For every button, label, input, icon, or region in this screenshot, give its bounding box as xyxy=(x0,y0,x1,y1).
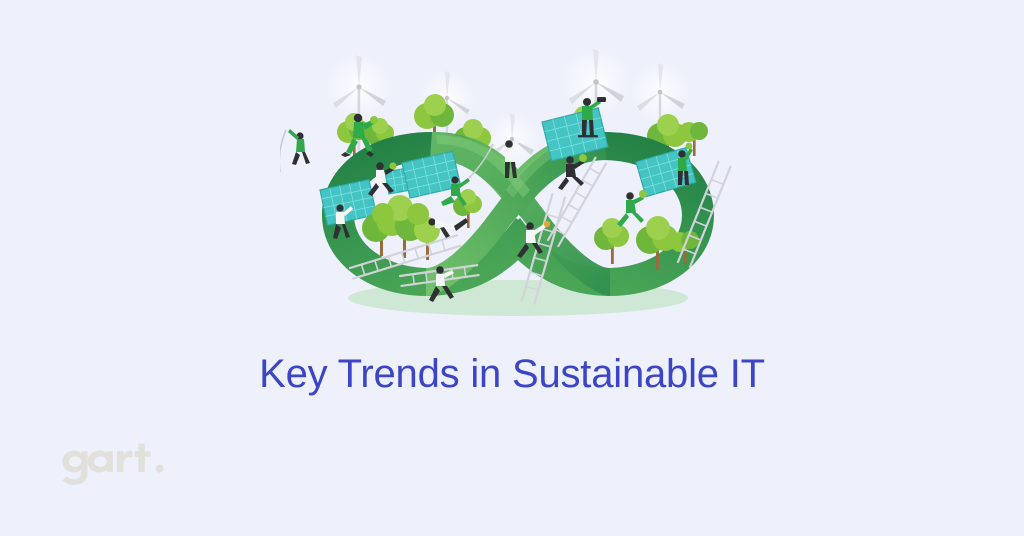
tree-icon xyxy=(594,218,629,264)
person-runner-icon xyxy=(617,190,647,227)
page-title: Key Trends in Sustainable IT xyxy=(0,352,1024,397)
slide-canvas: Key Trends in Sustainable IT xyxy=(0,0,1024,536)
illustration-sustainable-it-infinity-loop xyxy=(280,40,750,340)
brand-logo xyxy=(54,440,174,488)
person-climber-icon xyxy=(280,129,310,172)
logo-wordmark-icon xyxy=(62,444,163,485)
